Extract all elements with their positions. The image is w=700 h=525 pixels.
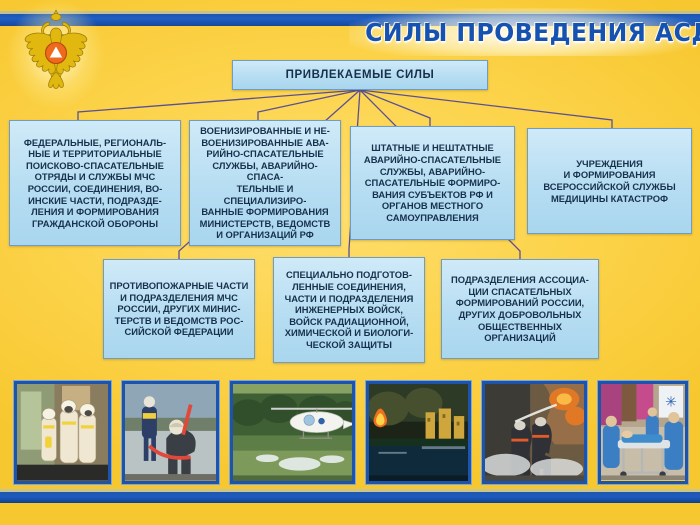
page-title: СИЛЫ ПРОВЕДЕНИЯ АСДНР xyxy=(365,18,682,48)
box-federal-search-rescue-units[interactable]: ФЕДЕРАЛЬНЫЕ, РЕГИОНАЛЬ- НЫЕ И ТЕРРИТОРИА… xyxy=(9,120,181,246)
box-disaster-medicine-service[interactable]: УЧРЕЖДЕНИЯ И ФОРМИРОВАНИЯ ВСЕРОССИЙСКОЙ … xyxy=(527,128,692,234)
photo-scene xyxy=(369,384,468,481)
firefighters-extinguishing-building-photo xyxy=(482,381,587,484)
photo-scene xyxy=(17,384,108,481)
root-box-attracted-forces[interactable]: ПРИВЛЕКАЕМЫЕ СИЛЫ xyxy=(232,60,488,90)
box-label: ФЕДЕРАЛЬНЫЕ, РЕГИОНАЛЬ- НЫЕ И ТЕРРИТОРИА… xyxy=(19,134,171,233)
photo-scene xyxy=(233,384,352,482)
box-label: УЧРЕЖДЕНИЯ И ФОРМИРОВАНИЯ ВСЕРОССИЙСКОЙ … xyxy=(538,155,680,207)
mchs-emblem xyxy=(14,6,98,102)
box-label: ПРОТИВОПОЖАРНЫЕ ЧАСТИ И ПОДРАЗДЕЛЕНИЯ МЧ… xyxy=(105,277,254,341)
box-volunteer-rescue-associations[interactable]: ПОДРАЗДЕЛЕНИЯ АССОЦИА- ЦИИ СПАСАТЕЛЬНЫХ … xyxy=(441,259,599,359)
poster-canvas: СИЛЫ ПРОВЕДЕНИЯ АСДНР ПРИВЛЕКАЕМЫЕ СИЛЫ … xyxy=(0,0,700,525)
firefighters-with-hose-photo xyxy=(122,381,219,484)
box-militarized-rescue-services[interactable]: ВОЕНИЗИРОВАННЫЕ И НЕ- ВОЕНИЗИРОВАННЫЕ АВ… xyxy=(189,120,341,246)
medics-with-stretcher-photo: ✳ xyxy=(598,381,688,484)
box-label: ШТАТНЫЕ И НЕШТАТНЫЕ АВАРИЙНО-СПАСАТЕЛЬНЫ… xyxy=(359,139,506,226)
box-label: ВОЕНИЗИРОВАННЫЕ И НЕ- ВОЕНИЗИРОВАННЫЕ АВ… xyxy=(190,122,340,244)
svg-text:✳: ✳ xyxy=(665,394,677,410)
box-engineer-nbc-troops[interactable]: СПЕЦИАЛЬНО ПОДГОТОВ- ЛЕННЫЕ СОЕДИНЕНИЯ, … xyxy=(273,257,425,363)
bottom-blue-rule xyxy=(0,492,700,503)
box-label: ПОДРАЗДЕЛЕНИЯ АССОЦИА- ЦИИ СПАСАТЕЛЬНЫХ … xyxy=(446,271,594,347)
box-label: СПЕЦИАЛЬНО ПОДГОТОВ- ЛЕННЫЕ СОЕДИНЕНИЯ, … xyxy=(280,266,419,353)
photo-scene xyxy=(125,384,216,481)
night-fire-scene-photo xyxy=(366,381,471,484)
poster-title-banner: СИЛЫ ПРОВЕДЕНИЯ АСДНР xyxy=(355,12,692,52)
root-box-label: ПРИВЛЕКАЕМЫЕ СИЛЫ xyxy=(281,66,440,84)
rescue-helicopter-over-water-photo xyxy=(230,381,355,484)
emblem-eagle-icon xyxy=(14,6,98,102)
rescuers-in-protective-suits-photo xyxy=(14,381,111,484)
photo-scene xyxy=(485,384,584,481)
box-regional-rescue-formations[interactable]: ШТАТНЫЕ И НЕШТАТНЫЕ АВАРИЙНО-СПАСАТЕЛЬНЫ… xyxy=(350,126,515,240)
box-firefighting-units[interactable]: ПРОТИВОПОЖАРНЫЕ ЧАСТИ И ПОДРАЗДЕЛЕНИЯ МЧ… xyxy=(103,259,255,359)
photo-scene: ✳ xyxy=(601,384,685,480)
